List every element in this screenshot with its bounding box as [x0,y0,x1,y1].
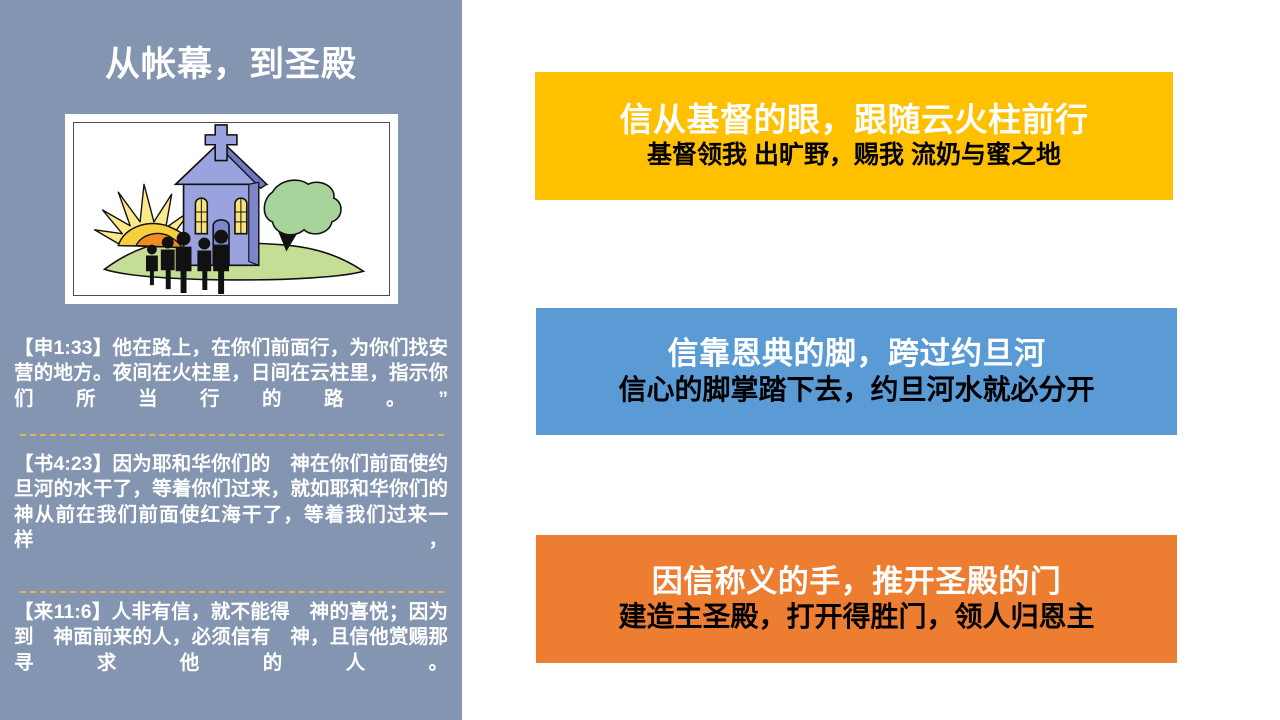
banner-heading: 因信称义的手，推开圣殿的门 [652,565,1062,600]
scripture-divider-1 [20,434,444,436]
illustration-frame [65,114,398,304]
banner-faith-hands: 因信称义的手，推开圣殿的门 建造主圣殿，打开得胜门，领人归恩主 [536,535,1177,663]
banner-subheading: 基督领我 出旷野，赐我 流奶与蜜之地 [647,141,1061,170]
banner-heading: 信从基督的眼，跟随云火柱前行 [620,102,1089,139]
banner-faith-eyes: 信从基督的眼，跟随云火柱前行 基督领我 出旷野，赐我 流奶与蜜之地 [535,72,1173,200]
church-illustration-icon [74,123,389,295]
banner-subheading: 信心的脚掌踏下去，约旦河水就必分开 [618,374,1094,406]
banner-heading: 信靠恩典的脚，跨过约旦河 [668,337,1046,372]
scripture-verse-deuteronomy: 【申1:33】他在路上，在你们前面行，为你们找安营的地方。夜间在火柱里，日间在云… [14,336,448,412]
sidebar-panel: 从帐幕，到圣殿 [0,0,462,720]
banner-faith-feet: 信靠恩典的脚，跨过约旦河 信心的脚掌踏下去，约旦河水就必分开 [536,308,1177,435]
scripture-verse-hebrews: 【来11:6】人非有信，就不能得 神的喜悦；因为到 神面前来的人，必须信有 神，… [14,600,448,676]
page-title: 从帐幕，到圣殿 [0,46,462,85]
banner-subheading: 建造主圣殿，打开得胜门，领人归恩主 [618,601,1094,633]
scripture-divider-2 [20,591,444,593]
scripture-verse-joshua: 【书4:23】因为耶和华你们的 神在你们前面使约旦河的水干了，等着你们过来，就如… [14,452,448,553]
illustration-inner-border [73,122,390,296]
